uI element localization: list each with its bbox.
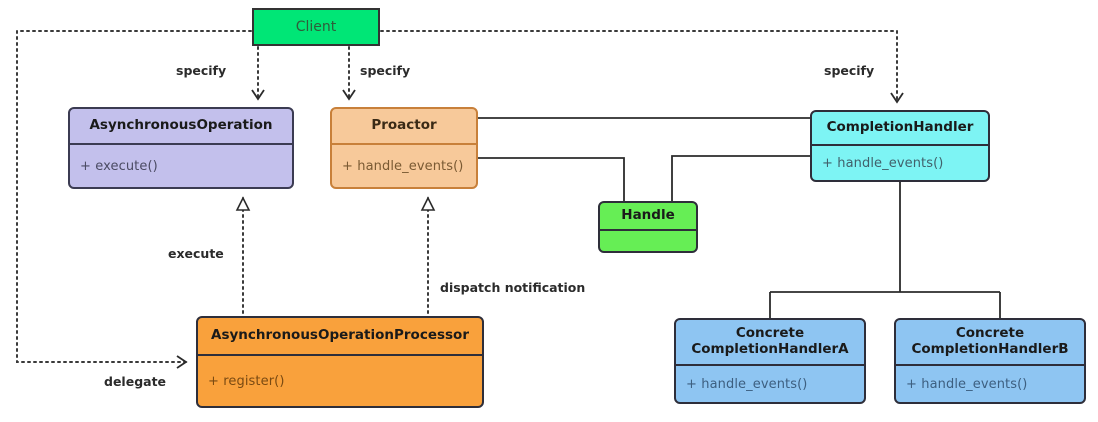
edge-concrete-handlers-generalization bbox=[770, 182, 1000, 318]
class-operation-asynchronous-operation-processor-register: + register() bbox=[198, 356, 482, 406]
edge-label-execute: execute bbox=[168, 246, 224, 261]
class-operation-asynchronous-operation-execute: + execute() bbox=[70, 145, 292, 187]
edge-client-specify-completionhandler bbox=[381, 31, 897, 102]
class-title-concrete-completion-handler-a: Concrete CompletionHandlerA bbox=[676, 320, 864, 364]
class-box-completion-handler[interactable]: CompletionHandler + handle_events() bbox=[810, 110, 990, 182]
class-title-asynchronous-operation-processor: AsynchronousOperationProcessor bbox=[198, 318, 482, 354]
edge-completionhandler-handle-association bbox=[672, 156, 810, 201]
class-operation-concrete-completion-handler-a-handle-events: + handle_events() bbox=[676, 366, 864, 402]
class-box-asynchronous-operation[interactable]: AsynchronousOperation + execute() bbox=[68, 107, 294, 189]
edge-client-delegate-processor bbox=[17, 31, 251, 362]
class-title-asynchronous-operation: AsynchronousOperation bbox=[70, 109, 292, 143]
edge-proactor-handle-association bbox=[478, 158, 624, 201]
edge-label-specify-asynchronousoperation: specify bbox=[176, 63, 226, 78]
class-title-handle: Handle bbox=[600, 203, 696, 229]
class-title-proactor: Proactor bbox=[332, 109, 476, 143]
edge-label-specify-completionhandler: specify bbox=[824, 63, 874, 78]
uml-class-diagram: specify specify specify execute dispatch… bbox=[0, 0, 1098, 422]
edge-label-specify-proactor: specify bbox=[360, 63, 410, 78]
class-operation-proactor-handle-events: + handle_events() bbox=[332, 145, 476, 187]
class-operation-concrete-completion-handler-b-handle-events: + handle_events() bbox=[896, 366, 1084, 402]
class-box-proactor[interactable]: Proactor + handle_events() bbox=[330, 107, 478, 189]
edge-label-delegate: delegate bbox=[104, 374, 166, 389]
class-box-concrete-completion-handler-a[interactable]: Concrete CompletionHandlerA + handle_eve… bbox=[674, 318, 866, 404]
class-box-handle[interactable]: Handle bbox=[598, 201, 698, 253]
class-operation-completion-handler-handle-events: + handle_events() bbox=[812, 146, 988, 180]
class-box-client[interactable]: Client bbox=[252, 8, 380, 46]
edge-label-dispatch-notification: dispatch notification bbox=[440, 280, 585, 295]
class-box-concrete-completion-handler-b[interactable]: Concrete CompletionHandlerB + handle_eve… bbox=[894, 318, 1086, 404]
class-box-asynchronous-operation-processor[interactable]: AsynchronousOperationProcessor + registe… bbox=[196, 316, 484, 408]
class-operations-handle-empty bbox=[600, 231, 696, 251]
class-title-client: Client bbox=[254, 10, 378, 44]
class-title-completion-handler: CompletionHandler bbox=[812, 112, 988, 144]
class-title-concrete-completion-handler-b: Concrete CompletionHandlerB bbox=[896, 320, 1084, 364]
